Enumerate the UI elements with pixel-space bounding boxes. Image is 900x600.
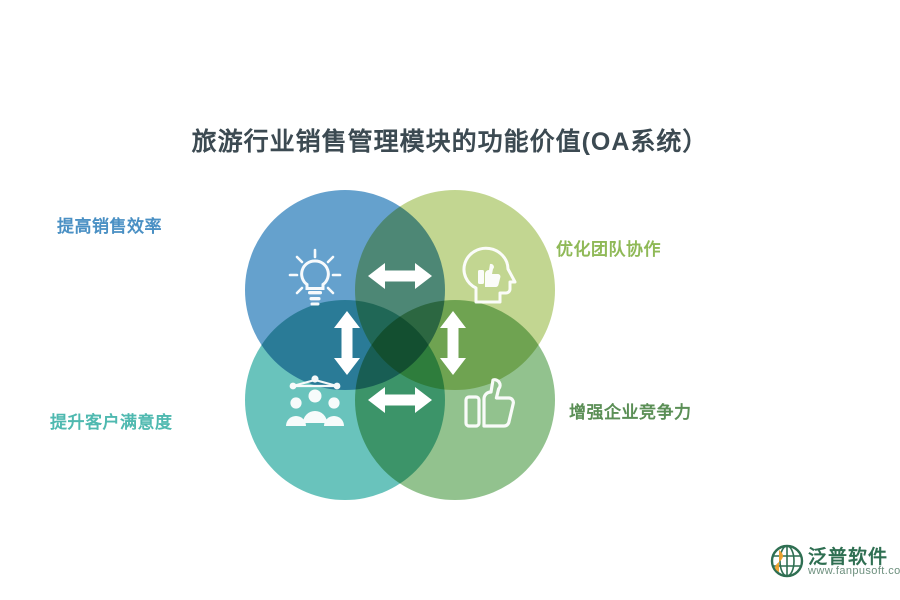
label-bottom-left: 提升客户满意度 xyxy=(50,408,173,433)
venn-circle-bottom-right[interactable] xyxy=(355,300,555,500)
page-title: 旅游行业销售管理模块的功能价值(OA系统） xyxy=(0,122,900,158)
label-bottom-right: 增强企业竞争力 xyxy=(569,398,692,423)
venn-diagram xyxy=(245,190,555,500)
fanpu-globe-icon xyxy=(770,544,804,578)
label-top-left: 提高销售效率 xyxy=(57,212,162,237)
label-top-right: 优化团队协作 xyxy=(556,235,661,260)
page-root: 旅游行业销售管理模块的功能价值(OA系统） xyxy=(0,0,900,600)
logo-url: www.fanpusoft.com xyxy=(808,565,900,577)
brand-logo[interactable]: 泛普软件 www.fanpusoft.com xyxy=(770,542,880,584)
